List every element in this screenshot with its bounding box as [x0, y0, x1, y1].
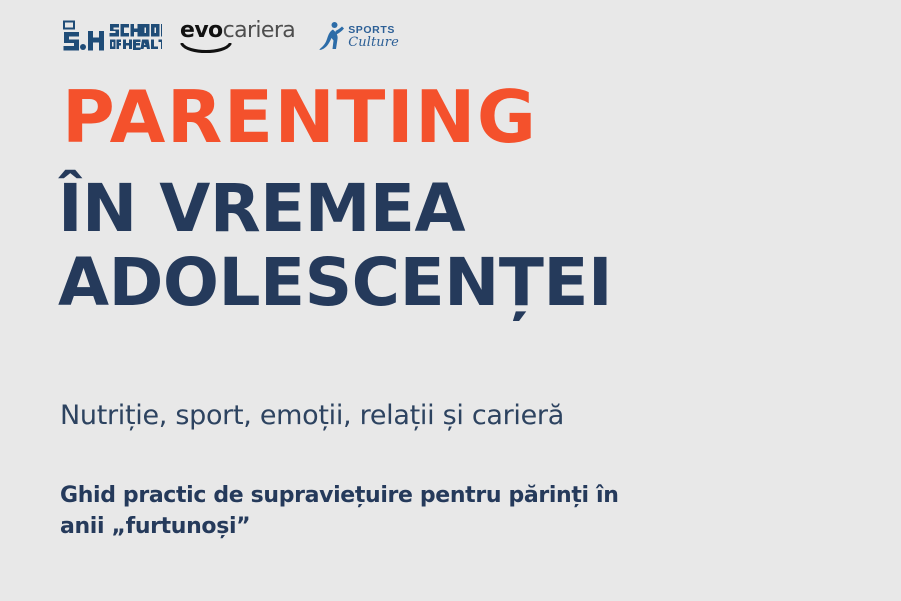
headline-line-adolescentei: ADOLESCENȚEI — [58, 245, 858, 316]
partner-logo-bar: evocariera SPORTS Culture — [62, 14, 399, 60]
evocariera-wordmark: evocariera — [180, 20, 295, 42]
headline-line-parenting: PARENTING — [62, 82, 858, 153]
sports-culture-line1: SPORTS — [348, 25, 399, 36]
evocariera-light-part: cariera — [223, 18, 296, 43]
evocariera-bold-part: evo — [180, 18, 223, 43]
presentation-slide: evocariera SPORTS Culture PARENTI — [0, 0, 901, 601]
logo-school-of-health — [62, 14, 162, 60]
evocariera-smile-icon — [180, 43, 232, 54]
headline-line-in-vremea: ÎN VREMEA — [58, 159, 858, 242]
school-of-health-logo-icon — [62, 20, 162, 54]
headline-block: PARENTING ÎN VREMEA ADOLESCENȚEI — [58, 82, 858, 316]
sports-culture-line2: Culture — [348, 36, 399, 49]
running-figure-icon — [319, 21, 345, 53]
logo-sports-culture: SPORTS Culture — [319, 14, 399, 60]
logo-evocariera: evocariera — [180, 14, 295, 60]
tagline-text: Ghid practic de supraviețuire pentru păr… — [60, 480, 640, 542]
subtitle-text: Nutriție, sport, emoții, relații și cari… — [60, 400, 564, 431]
